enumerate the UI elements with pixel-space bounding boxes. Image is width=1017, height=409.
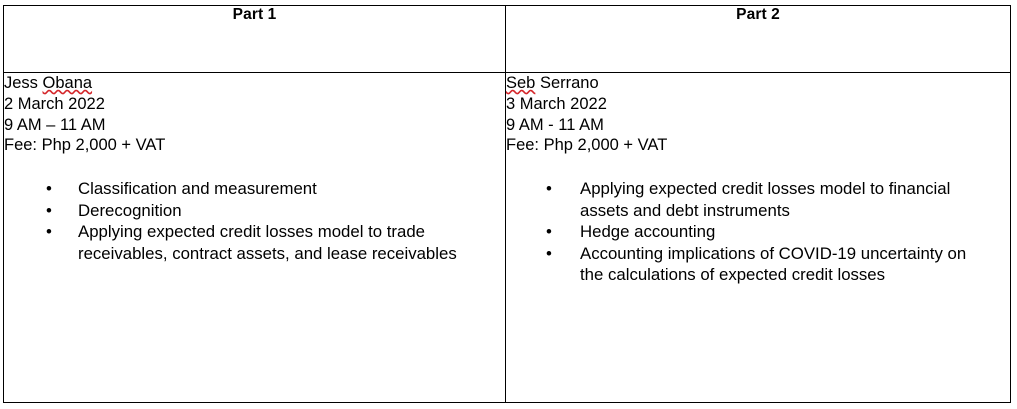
topic-text: Applying expected credit losses model to…: [78, 221, 498, 264]
session-details-part2: Seb Serrano 3 March 2022 9 AM - 11 AM Fe…: [506, 73, 1010, 156]
cell-part1: Jess Obana 2 March 2022 9 AM – 11 AM Fee…: [4, 73, 506, 403]
speaker-lastname-part1: Obana: [43, 74, 93, 92]
column-header-part2: Part 2: [506, 6, 1011, 73]
topic-list-part2: • Applying expected credit losses model …: [506, 178, 1010, 286]
session-details-part1: Jess Obana 2 March 2022 9 AM – 11 AM Fee…: [4, 73, 505, 156]
session-fee-part1: Fee: Php 2,000 + VAT: [4, 135, 505, 156]
session-date-part1: 2 March 2022: [4, 94, 505, 115]
speaker-firstname-part2: Seb: [506, 74, 535, 92]
topic-text: Applying expected credit losses model to…: [580, 178, 990, 221]
session-time-part1: 9 AM – 11 AM: [4, 115, 505, 136]
list-item: • Classification and measurement: [4, 178, 498, 200]
table-header-row: Part 1 Part 2: [4, 6, 1011, 73]
session-time-part2: 9 AM - 11 AM: [506, 115, 1010, 136]
list-item: • Applying expected credit losses model …: [506, 178, 990, 221]
bullet-icon: •: [44, 200, 54, 222]
topic-text: Accounting implications of COVID-19 unce…: [580, 243, 990, 286]
topic-text: Classification and measurement: [78, 178, 498, 200]
speaker-name-part1: Jess Obana: [4, 73, 505, 94]
cell-part2: Seb Serrano 3 March 2022 9 AM - 11 AM Fe…: [506, 73, 1011, 403]
bullet-icon: •: [544, 221, 554, 243]
topic-text: Hedge accounting: [580, 221, 990, 243]
bullet-icon: •: [44, 178, 54, 200]
session-date-part2: 3 March 2022: [506, 94, 1010, 115]
speaker-firstname-part1: Jess: [4, 74, 43, 92]
topic-text: Derecognition: [78, 200, 498, 222]
bullet-icon: •: [544, 243, 554, 265]
column-header-part1: Part 1: [4, 6, 506, 73]
schedule-table: Part 1 Part 2 Jess Obana 2 March 2022 9 …: [3, 5, 1011, 403]
topic-list-part1: • Classification and measurement • Derec…: [4, 178, 505, 264]
bullet-icon: •: [44, 221, 54, 243]
bullet-icon: •: [544, 178, 554, 200]
list-item: • Hedge accounting: [506, 221, 990, 243]
table-body-row: Jess Obana 2 March 2022 9 AM – 11 AM Fee…: [4, 73, 1011, 403]
list-item: • Applying expected credit losses model …: [4, 221, 498, 264]
session-fee-part2: Fee: Php 2,000 + VAT: [506, 135, 1010, 156]
speaker-name-part2: Seb Serrano: [506, 73, 1010, 94]
list-item: • Accounting implications of COVID-19 un…: [506, 243, 990, 286]
speaker-lastname-part2: Serrano: [535, 74, 598, 92]
list-item: • Derecognition: [4, 200, 498, 222]
